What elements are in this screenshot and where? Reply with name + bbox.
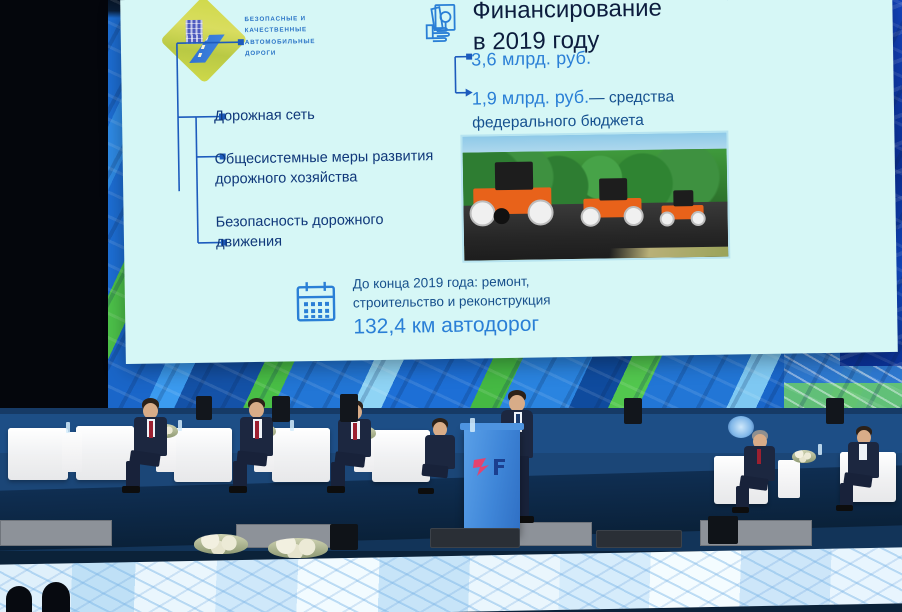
stage-light-5 bbox=[826, 398, 844, 424]
stage-speaker-1 bbox=[330, 524, 358, 550]
stage-flowers-1 bbox=[194, 534, 248, 554]
stage-monitor-1 bbox=[430, 528, 520, 548]
flower-arrangement-3 bbox=[792, 450, 816, 463]
seated-panelist-1 bbox=[132, 398, 180, 494]
calendar-line-2: строительство и реконструкция bbox=[353, 288, 693, 312]
water-bottle-3 bbox=[818, 444, 822, 455]
hand-with-banknotes-icon bbox=[418, 1, 463, 48]
stage-light-3 bbox=[340, 394, 358, 422]
audience-silhouette-2 bbox=[42, 582, 70, 612]
water-bottle-2 bbox=[290, 420, 294, 431]
stage-light-2 bbox=[272, 396, 290, 422]
forum-emblem-icon bbox=[472, 456, 508, 478]
speaker-podium[interactable] bbox=[464, 428, 520, 535]
finance-amount-total: 3,6 млрд. руб. bbox=[471, 48, 591, 71]
road-roller-1 bbox=[473, 187, 551, 214]
water-bottle-0 bbox=[66, 422, 70, 433]
seated-panelist-5 bbox=[742, 430, 788, 516]
stage-riser-1 bbox=[0, 520, 112, 546]
branch-item-road-network: Дорожная сеть bbox=[214, 103, 444, 127]
calendar-highlight: 132,4 км автодорог bbox=[353, 310, 693, 339]
road-roller-3 bbox=[661, 205, 703, 220]
conference-photo-scene: БЕЗОПАСНЫЕ И КАЧЕСТВЕННЫЕ АВТОМОБИЛЬНЫЕ … bbox=[0, 0, 902, 612]
calendar-caption: До конца 2019 года: ремонт, строительств… bbox=[353, 269, 694, 340]
finance-federal-amount: 1,9 млрд. руб. bbox=[472, 87, 590, 109]
podium-water-bottle bbox=[470, 418, 475, 432]
armchair-0 bbox=[8, 428, 68, 480]
left-branch-list: Дорожная сеть Общесистемные меры развити… bbox=[214, 103, 447, 275]
armchair-2 bbox=[174, 428, 232, 482]
audience-silhouette-1 bbox=[6, 586, 32, 612]
stage-speaker-2 bbox=[708, 516, 738, 544]
finance-federal-note: — средства bbox=[589, 88, 674, 106]
seated-panelist-4 bbox=[424, 418, 468, 498]
stage-flowers-2 bbox=[268, 538, 328, 558]
finance-federal-note-2: федерального бюджета bbox=[472, 107, 802, 134]
road-rollers-photo bbox=[460, 131, 730, 263]
stage-light-1 bbox=[196, 396, 212, 420]
calendar-icon bbox=[293, 279, 340, 326]
seated-panelist-6 bbox=[846, 426, 892, 514]
branch-item-system-measures: Общесистемные меры развития дорожного хо… bbox=[215, 146, 446, 191]
stage-monitor-2 bbox=[596, 530, 682, 548]
presentation-slide: БЕЗОПАСНЫЕ И КАЧЕСТВЕННЫЕ АВТОМОБИЛЬНЫЕ … bbox=[120, 0, 898, 364]
check-badge-icon bbox=[716, 0, 738, 7]
branch-item-traffic-safety: Безопасность дорожного движения bbox=[216, 209, 447, 254]
road-roller-2 bbox=[583, 198, 641, 218]
side-table-0 bbox=[62, 432, 82, 472]
stage-spotlight bbox=[728, 416, 754, 438]
finance-amount-federal: 1,9 млрд. руб.— средства федерального бю… bbox=[472, 81, 803, 134]
stage-light-4 bbox=[624, 398, 642, 424]
